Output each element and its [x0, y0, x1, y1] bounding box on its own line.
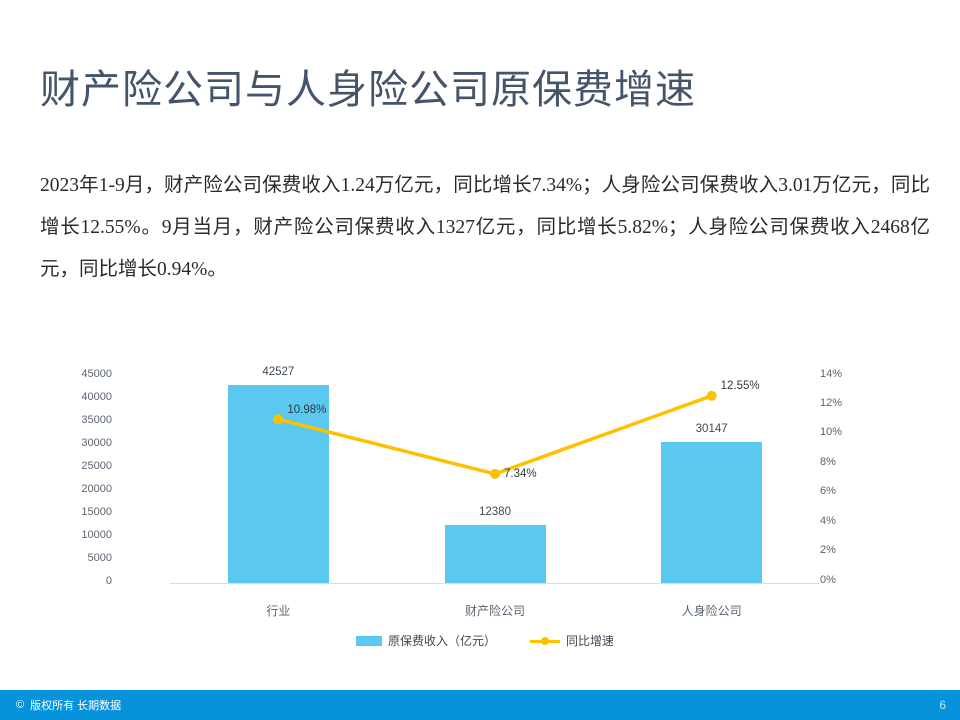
left-axis-tick: 20000 — [52, 483, 112, 495]
copyright-icon: © — [16, 700, 24, 711]
line-point-label: 7.34% — [504, 468, 537, 480]
left-axis-tick: 0 — [52, 575, 112, 587]
bar-swatch-icon — [356, 636, 382, 646]
line-swatch-icon — [530, 636, 560, 646]
right-axis-tick: 6% — [820, 485, 870, 497]
left-axis-tick: 35000 — [52, 414, 112, 426]
chart-container: 45000 40000 35000 30000 25000 20000 1500… — [110, 360, 860, 660]
plot-area: 42527 12380 30147 10.98% 7.34% 12.55% 行业… — [170, 374, 820, 584]
footer-bar: © 版权所有 长期数据 6 — [0, 690, 960, 720]
legend-item-bar-series[interactable]: 原保费收入（亿元） — [356, 632, 496, 649]
category-label: 人身险公司 — [603, 602, 820, 619]
legend-item-line-series[interactable]: 同比增速 — [530, 632, 614, 649]
legend-label: 原保费收入（亿元） — [388, 632, 496, 649]
left-axis-tick: 30000 — [52, 437, 112, 449]
right-axis-tick: 10% — [820, 426, 870, 438]
right-axis-tick: 4% — [820, 515, 870, 527]
legend-label: 同比增速 — [566, 632, 614, 649]
footer-copyright: © 版权所有 长期数据 — [16, 697, 121, 713]
category-label: 财产险公司 — [387, 602, 604, 619]
page-number: 6 — [939, 698, 946, 712]
left-axis-tick: 15000 — [52, 506, 112, 518]
right-axis-tick: 12% — [820, 397, 870, 409]
slide-body-text: 2023年1-9月，财产险公司保费收入1.24万亿元，同比增长7.34%；人身险… — [40, 165, 930, 291]
footer-label: 版权所有 长期数据 — [30, 697, 121, 713]
page-title: 财产险公司与人身险公司原保费增速 — [40, 64, 696, 116]
line-point-label: 10.98% — [287, 404, 326, 416]
left-axis-tick: 25000 — [52, 460, 112, 472]
right-axis-tick: 0% — [820, 574, 870, 586]
growth-rate-line — [170, 374, 820, 584]
chart-legend: 原保费收入（亿元） 同比增速 — [110, 632, 860, 649]
right-axis-tick: 2% — [820, 544, 870, 556]
right-axis-tick: 8% — [820, 456, 870, 468]
line-point-label: 12.55% — [721, 380, 760, 392]
left-axis-tick: 40000 — [52, 391, 112, 403]
left-axis-tick: 5000 — [52, 552, 112, 564]
left-axis-tick: 45000 — [52, 368, 112, 380]
right-axis-tick: 14% — [820, 368, 870, 380]
category-label: 行业 — [170, 602, 387, 619]
left-axis-tick: 10000 — [52, 529, 112, 541]
